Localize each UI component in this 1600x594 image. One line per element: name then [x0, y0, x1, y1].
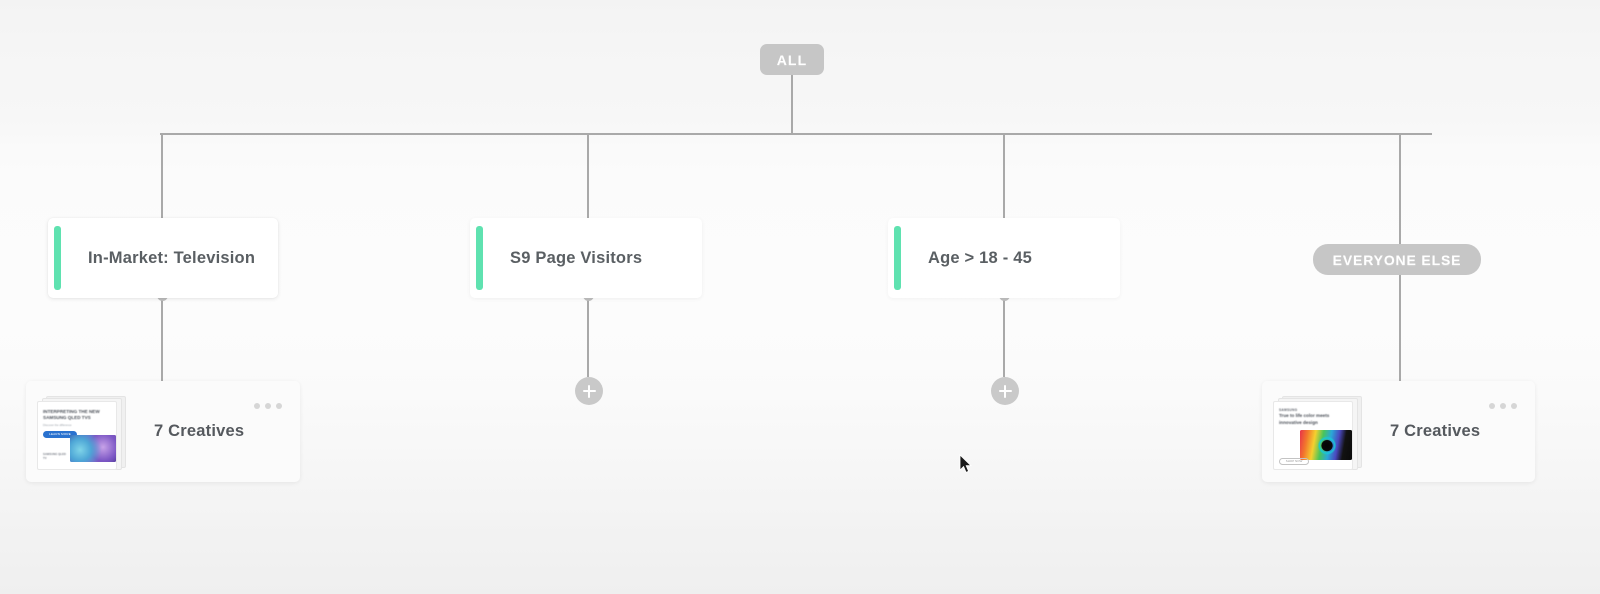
segment-node-label: S9 Page Visitors — [470, 249, 642, 268]
mouse-cursor-icon — [959, 454, 973, 474]
everyone-else-badge[interactable]: EVERYONE ELSE — [1313, 244, 1481, 275]
kebab-dot — [1500, 403, 1506, 409]
segment-node-age-18-45[interactable]: Age > 18 - 45 — [888, 218, 1120, 298]
segment-accent-bar — [894, 226, 901, 290]
creative-count-label: 7 Creatives — [154, 422, 244, 441]
connector-root-stem — [791, 75, 793, 135]
segment-accent-bar — [476, 226, 483, 290]
kebab-dot — [254, 403, 260, 409]
segment-node-in-market-television[interactable]: In-Market: Television — [48, 218, 278, 298]
segment-accent-bar — [54, 226, 61, 290]
creative-thumbnail-stack: INTERPRETING THE NEW SAMSUNG QLED TVS Di… — [36, 393, 132, 471]
kebab-dot — [1489, 403, 1495, 409]
connector-node1-to-add — [587, 295, 589, 377]
creative-count-label: 7 Creatives — [1390, 422, 1480, 441]
kebab-dot — [265, 403, 271, 409]
add-creative-button-branch-1[interactable] — [575, 377, 603, 405]
creative-thumbnail-stack: SAMSUNG True to life color meets innovat… — [1272, 393, 1368, 471]
thumbnail-hero-image — [1300, 430, 1352, 460]
thumbnail-subtext: Discover the difference — [43, 423, 111, 427]
connector-horizontal-bus — [160, 133, 1432, 135]
thumbnail-brand: SAMSUNG — [1279, 408, 1347, 412]
kebab-dot — [1511, 403, 1517, 409]
connector-node0-to-creative — [161, 295, 163, 385]
thumbnail-footer: SAMSUNG QLED TV — [43, 452, 69, 460]
segment-tree-canvas: ALL In-Market: Television S9 Page Visito… — [0, 0, 1600, 594]
thumbnail-preview: INTERPRETING THE NEW SAMSUNG QLED TVS Di… — [37, 401, 117, 470]
root-badge-all[interactable]: ALL — [760, 44, 824, 75]
creative-card[interactable]: INTERPRETING THE NEW SAMSUNG QLED TVS Di… — [26, 381, 300, 482]
kebab-dot — [276, 403, 282, 409]
segment-node-label: Age > 18 - 45 — [888, 249, 1032, 268]
segment-node-s9-page-visitors[interactable]: S9 Page Visitors — [470, 218, 702, 298]
thumbnail-preview: SAMSUNG True to life color meets innovat… — [1273, 401, 1353, 470]
creative-more-options-icon[interactable] — [1489, 403, 1517, 409]
creative-card[interactable]: SAMSUNG True to life color meets innovat… — [1262, 381, 1535, 482]
add-creative-button-branch-2[interactable] — [991, 377, 1019, 405]
thumbnail-cta-button: SHOP NOW — [1279, 458, 1309, 465]
connector-branch-0 — [161, 133, 163, 219]
connector-branch-2 — [1003, 133, 1005, 219]
thumbnail-headline: True to life color meets innovative desi… — [1279, 413, 1347, 426]
thumbnail-hero-image — [70, 435, 116, 462]
thumbnail-headline: INTERPRETING THE NEW SAMSUNG QLED TVS — [43, 409, 111, 422]
connector-node2-to-add — [1003, 295, 1005, 377]
segment-node-label: In-Market: Television — [48, 249, 255, 268]
creative-more-options-icon[interactable] — [254, 403, 282, 409]
connector-branch-1 — [587, 133, 589, 219]
